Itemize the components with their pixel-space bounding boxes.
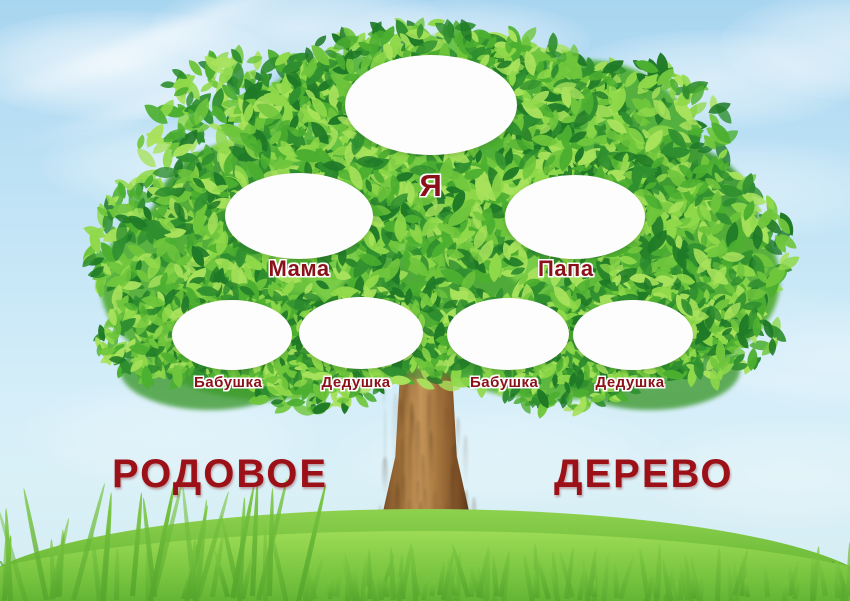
name-oval-grandparents-1[interactable] [299, 297, 423, 369]
leaf [200, 82, 213, 92]
relation-label-self-0: Я [420, 168, 443, 204]
family-tree-poster: ЯМамаПапаБабушкаДедушкаБабушкаДедушка РО… [0, 0, 850, 601]
bark-groove [456, 417, 460, 454]
bark-groove [398, 399, 403, 436]
bark-groove [445, 407, 448, 439]
poster-title-right: ДЕРЕВО [554, 452, 734, 497]
name-oval-parents-0[interactable] [225, 173, 373, 259]
name-oval-self-0[interactable] [345, 55, 517, 155]
name-oval-parents-1[interactable] [505, 175, 645, 259]
relation-label-grandparents-0: Бабушка [194, 374, 262, 391]
relation-label-parents-0: Мама [269, 256, 330, 282]
relation-label-grandparents-1: Дедушка [322, 374, 391, 391]
poster-title-left: РОДОВОЕ [112, 452, 328, 497]
bark-groove [410, 401, 412, 459]
name-oval-grandparents-3[interactable] [573, 300, 693, 370]
relation-label-grandparents-2: Бабушка [470, 374, 538, 391]
relation-label-parents-1: Папа [538, 256, 594, 282]
name-oval-grandparents-0[interactable] [172, 300, 292, 370]
name-oval-grandparents-2[interactable] [447, 298, 569, 370]
relation-label-grandparents-3: Дедушка [596, 374, 665, 391]
